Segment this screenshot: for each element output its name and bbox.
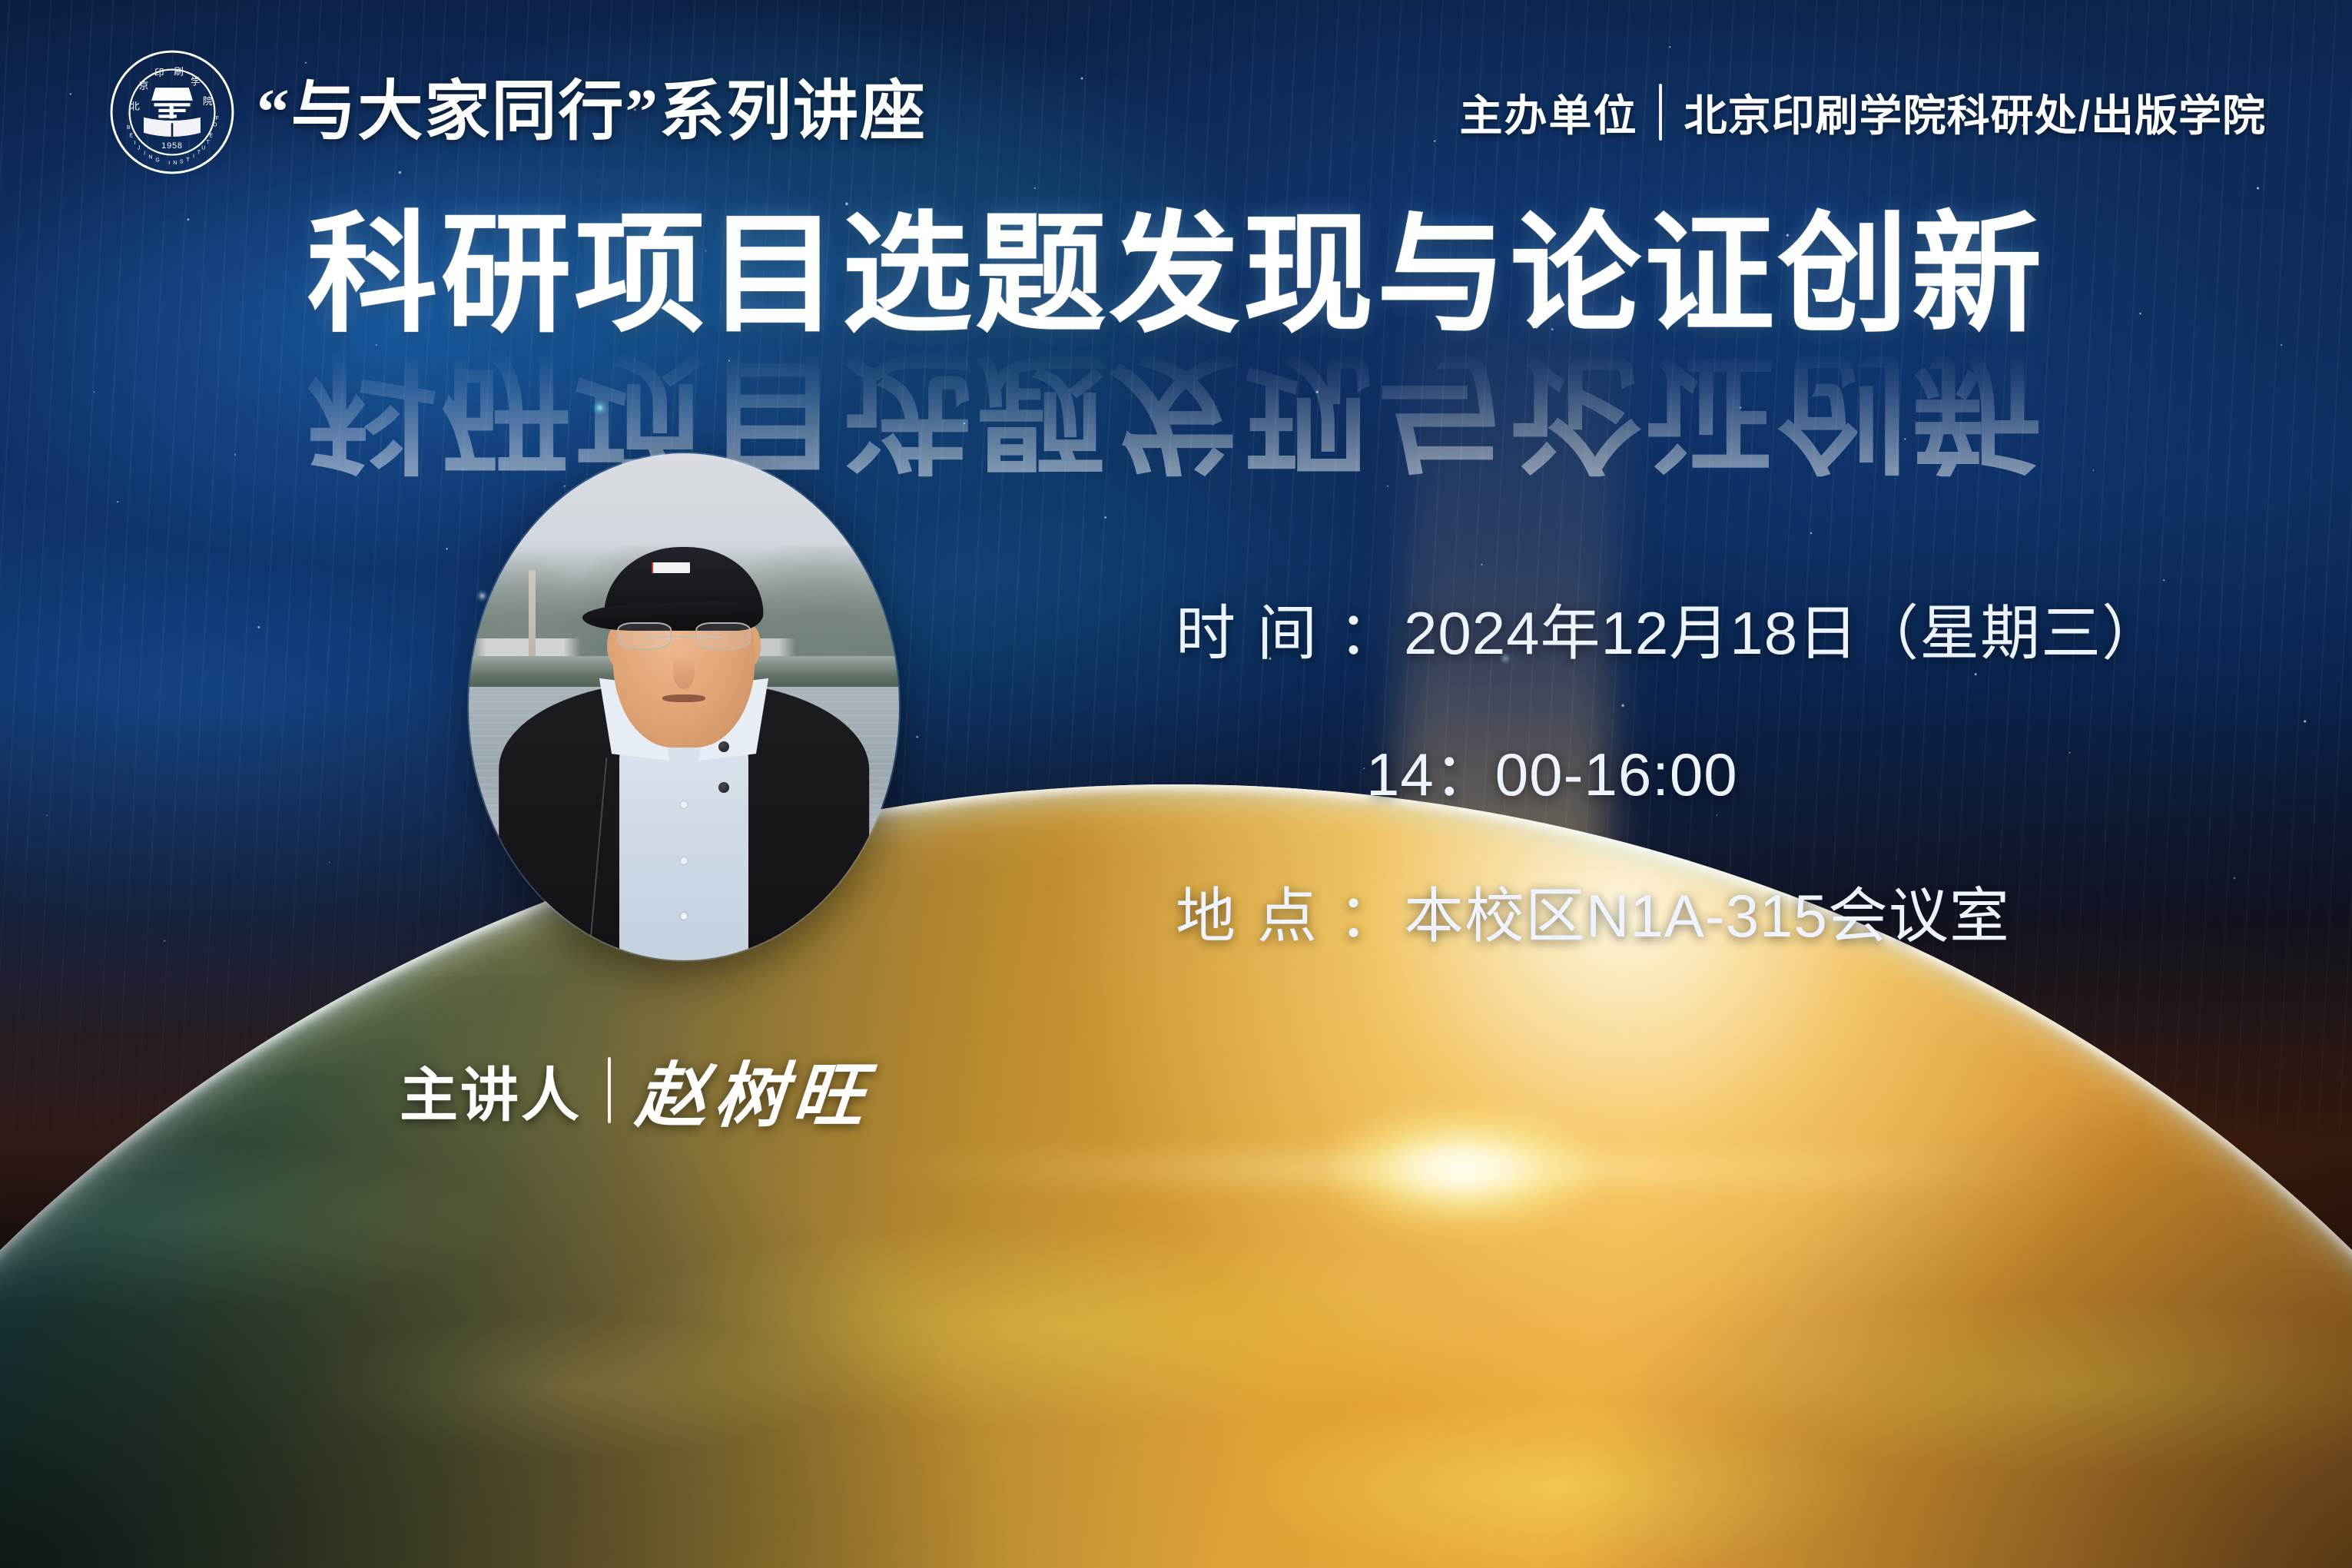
event-time-row: 14：00-16:00: [1176, 727, 2267, 813]
speaker-divider: [608, 1057, 611, 1123]
portrait-lens-left: [617, 622, 672, 650]
portrait-scene: [469, 453, 899, 960]
event-time-value: 14：00-16:00: [1366, 727, 1738, 813]
event-details: 时间 ： 2024年12月18日（星期三） 14：00-16:00 地点 ： 本…: [1176, 585, 2267, 954]
speaker-label: 主讲人: [400, 1048, 582, 1132]
speaker-portrait: [469, 453, 899, 960]
event-location-label: 地点: [1176, 868, 1339, 954]
event-date-colon: ：: [1339, 585, 1399, 671]
portrait-jacket-snap: [718, 782, 729, 793]
organizer-label: 主办单位: [1459, 81, 1637, 144]
university-seal-logo: 北 京 印 刷 学 院 1958 B E I J I: [108, 48, 237, 177]
poster-header: 北 京 印 刷 学 院 1958 B E I J I: [0, 48, 2352, 177]
sun-core-glow: [1332, 1111, 1594, 1226]
series-title: “与大家同行”系列讲座: [257, 80, 927, 145]
speaker-block: 主讲人 赵树旺: [400, 1039, 872, 1141]
organizer-divider: [1659, 84, 1662, 141]
brand-lockup: 北 京 印 刷 学 院 1958 B E I J I: [108, 48, 927, 177]
portrait-shirt-button: [681, 801, 688, 808]
organizer-block: 主办单位 北京印刷学院科研处/出版学院: [1459, 81, 2266, 144]
portrait-lens-right: [696, 622, 751, 650]
event-date-value: 2024年12月18日（星期三）: [1404, 585, 2162, 671]
portrait-shirt-button: [681, 913, 688, 920]
portrait-glasses: [617, 622, 751, 650]
lecture-poster: 北 京 印 刷 学 院 1958 B E I J I: [0, 0, 2352, 1568]
event-location-value: 本校区N1A-315会议室: [1404, 868, 2010, 954]
event-location-row: 地点 ： 本校区N1A-315会议室: [1176, 868, 2267, 954]
svg-text:1958: 1958: [161, 141, 183, 151]
portrait-cap-logo-tag: [652, 562, 690, 573]
organizer-value: 北京印刷学院科研处/出版学院: [1684, 81, 2266, 144]
event-location-colon: ：: [1339, 868, 1399, 954]
portrait-mouth: [662, 694, 705, 703]
portrait-shirt-button: [681, 857, 688, 864]
portrait-nose: [673, 656, 695, 689]
event-date-row: 时间 ： 2024年12月18日（星期三）: [1176, 585, 2267, 671]
speaker-name: 赵树旺: [632, 1039, 877, 1141]
event-date-label: 时间: [1176, 585, 1339, 671]
